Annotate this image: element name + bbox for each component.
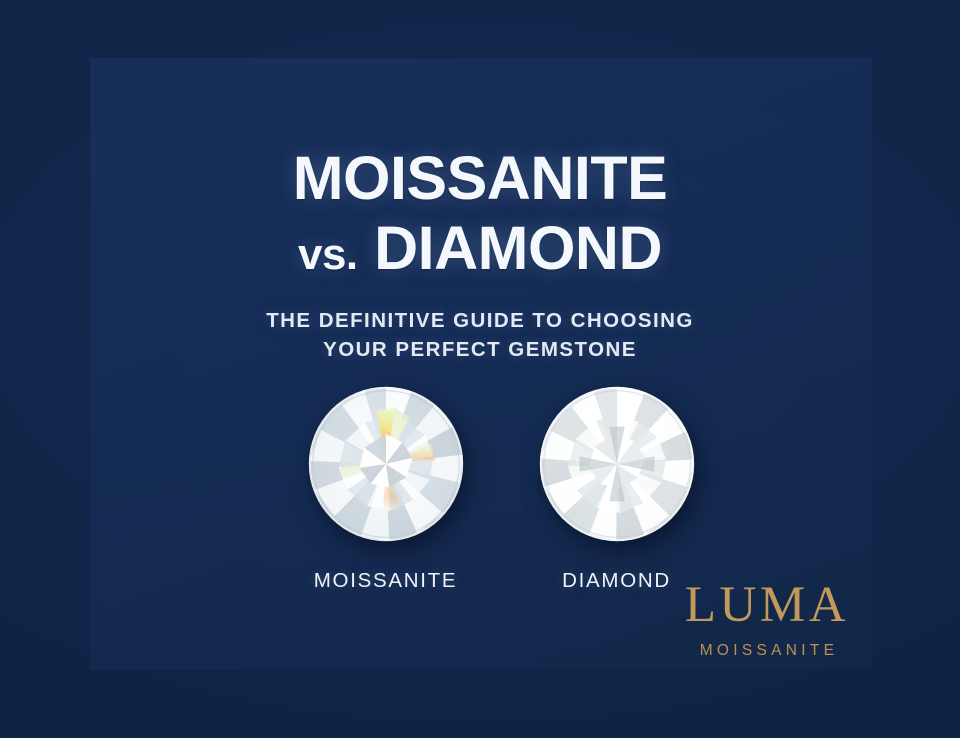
poster-canvas: MOISSANITE vs. DIAMOND THE DEFINITIVE GU…	[0, 0, 960, 738]
brand-logo: LUMA MOISSANITE	[672, 580, 862, 660]
logo-tagline: MOISSANITE	[672, 642, 862, 660]
moissanite-gem-image	[308, 386, 464, 542]
round-brilliant-gem-icon	[539, 386, 695, 542]
gem-column-diamond: DIAMOND	[539, 386, 695, 593]
gem-column-moissanite: MOISSANITE	[308, 386, 464, 593]
headline-diamond-text: DIAMOND	[374, 214, 662, 282]
headline-line-moissanite: MOISSANITE	[0, 148, 960, 209]
round-brilliant-gem-icon	[308, 386, 464, 542]
subtitle-line-2: YOUR PERFECT GEMSTONE	[0, 335, 960, 364]
headline-line-vs-diamond: vs. DIAMOND	[0, 218, 960, 279]
subtitle-line-1: THE DEFINITIVE GUIDE TO CHOOSING	[0, 306, 960, 335]
gem-label-moissanite: MOISSANITE	[314, 569, 457, 593]
diamond-gem-image	[539, 386, 695, 542]
subtitle: THE DEFINITIVE GUIDE TO CHOOSING YOUR PE…	[0, 306, 960, 364]
gem-label-diamond: DIAMOND	[562, 569, 671, 593]
logo-wordmark: LUMA	[672, 580, 862, 631]
headline-vs-text: vs.	[298, 230, 358, 279]
gem-comparison-row: MOISSANITE	[0, 386, 960, 593]
headline: MOISSANITE vs. DIAMOND	[0, 148, 960, 279]
